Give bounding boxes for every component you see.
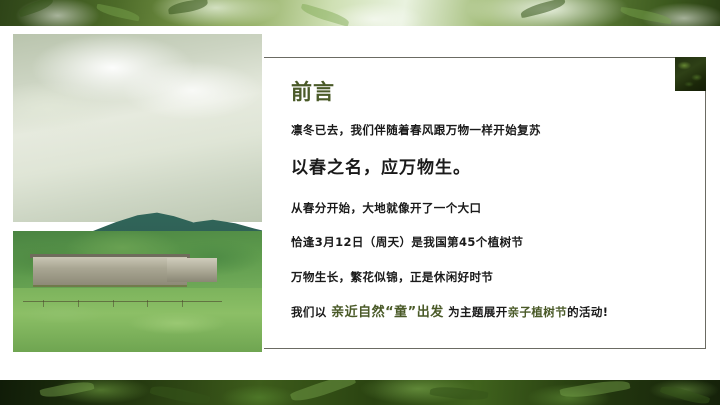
fence-line: [23, 301, 222, 302]
theme-highlight: 亲近自然“童”出发: [331, 305, 444, 320]
fence-post: [147, 300, 148, 307]
slide-canvas: 前言 凛冬已去，我们伴随着春风跟万物一样开始复苏 以春之名，应万物生。 从春分开…: [0, 0, 720, 405]
mountain-valley-farmhouse-photo: [13, 34, 262, 352]
fence-post: [182, 300, 183, 307]
top-foliage-band: [0, 0, 720, 26]
body-line-2-emphasis: 以春之名，应万物生。: [291, 160, 691, 177]
frame-right-line: [705, 57, 706, 349]
final-line-prefix: 我们以: [291, 305, 331, 319]
frame-bottom-line: [264, 348, 705, 349]
event-highlight: 亲子植树节: [508, 305, 568, 319]
final-line-suffix: 的活动!: [567, 305, 608, 319]
fence-post: [43, 300, 44, 307]
farmhouse-main: [33, 257, 187, 286]
sky-region: [13, 34, 262, 222]
bottom-foliage-band: [0, 380, 720, 405]
fence-post: [78, 300, 79, 307]
body-line-3: 从春分开始，大地就像开了一个大口: [291, 203, 691, 215]
frame-top-line: [264, 57, 705, 58]
body-line-4: 恰逢3月12日（周天）是我国第45个植树节: [291, 237, 691, 249]
body-line-5: 万物生长，繁花似锦，正是休闲好时节: [291, 272, 691, 284]
text-content-block: 前言 凛冬已去，我们伴随着春风跟万物一样开始复苏 以春之名，应万物生。 从春分开…: [291, 82, 691, 319]
body-line-1: 凛冬已去，我们伴随着春风跟万物一样开始复苏: [291, 125, 691, 137]
final-line-middle: 为主题展开: [444, 305, 508, 319]
fence-post: [113, 300, 114, 307]
page-title: 前言: [291, 82, 691, 103]
body-line-final: 我们以 亲近自然“童”出发 为主题展开亲子植树节的活动!: [291, 306, 691, 319]
farmhouse-annex: [167, 258, 217, 282]
foreground-field: [13, 288, 262, 352]
